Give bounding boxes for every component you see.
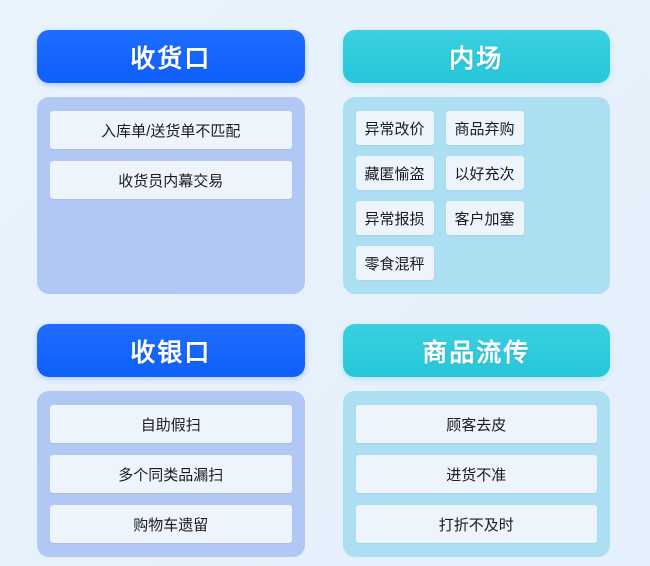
card-header-sales-floor: 内场: [343, 30, 611, 83]
card-body-goods-flow: 顾客去皮 进货不准 打折不及时: [343, 391, 611, 557]
card-title: 内场: [449, 39, 503, 75]
list-item[interactable]: 购物车遗留: [50, 505, 292, 543]
card-body-checkout: 自助假扫 多个同类品漏扫 购物车遗留: [37, 391, 305, 557]
list-item[interactable]: 客户加塞: [446, 201, 524, 235]
list-item[interactable]: 藏匿愉盗: [356, 156, 434, 190]
list-item[interactable]: 商品弃购: [446, 111, 524, 145]
card-body-receiving-dock: 入库单/送货单不匹配 收货员内幕交易: [37, 97, 305, 294]
list-item[interactable]: 异常改价: [356, 111, 434, 145]
list-item[interactable]: 多个同类品漏扫: [50, 455, 292, 493]
card-title: 收银口: [130, 333, 211, 369]
list-item[interactable]: 以好充次: [446, 156, 524, 190]
list-item[interactable]: 异常报损: [356, 201, 434, 235]
card-title: 收货口: [130, 39, 211, 75]
card-header-goods-flow: 商品流传: [343, 324, 611, 377]
scenario-board: 收货口 入库单/送货单不匹配 收货员内幕交易 内场 异常改价 商品弃购 藏匿愉盗…: [0, 0, 650, 566]
list-item[interactable]: 入库单/送货单不匹配: [50, 111, 292, 149]
list-item[interactable]: 进货不准: [356, 455, 598, 493]
card-title: 商品流传: [422, 333, 530, 369]
list-item[interactable]: 打折不及时: [356, 505, 598, 543]
card-header-checkout: 收银口: [37, 324, 305, 377]
list-item[interactable]: 自助假扫: [50, 405, 292, 443]
card-checkout: 收银口 自助假扫 多个同类品漏扫 购物车遗留: [37, 324, 305, 557]
card-sales-floor: 内场 异常改价 商品弃购 藏匿愉盗 以好充次 异常报损 客户加塞 零食混秤: [343, 30, 611, 294]
list-item[interactable]: 顾客去皮: [356, 405, 598, 443]
card-goods-flow: 商品流传 顾客去皮 进货不准 打折不及时: [343, 324, 611, 557]
card-body-sales-floor: 异常改价 商品弃购 藏匿愉盗 以好充次 异常报损 客户加塞 零食混秤: [343, 97, 611, 294]
list-item[interactable]: 零食混秤: [356, 246, 434, 280]
card-header-receiving-dock: 收货口: [37, 30, 305, 83]
list-item[interactable]: 收货员内幕交易: [50, 161, 292, 199]
card-receiving-dock: 收货口 入库单/送货单不匹配 收货员内幕交易: [37, 30, 305, 294]
